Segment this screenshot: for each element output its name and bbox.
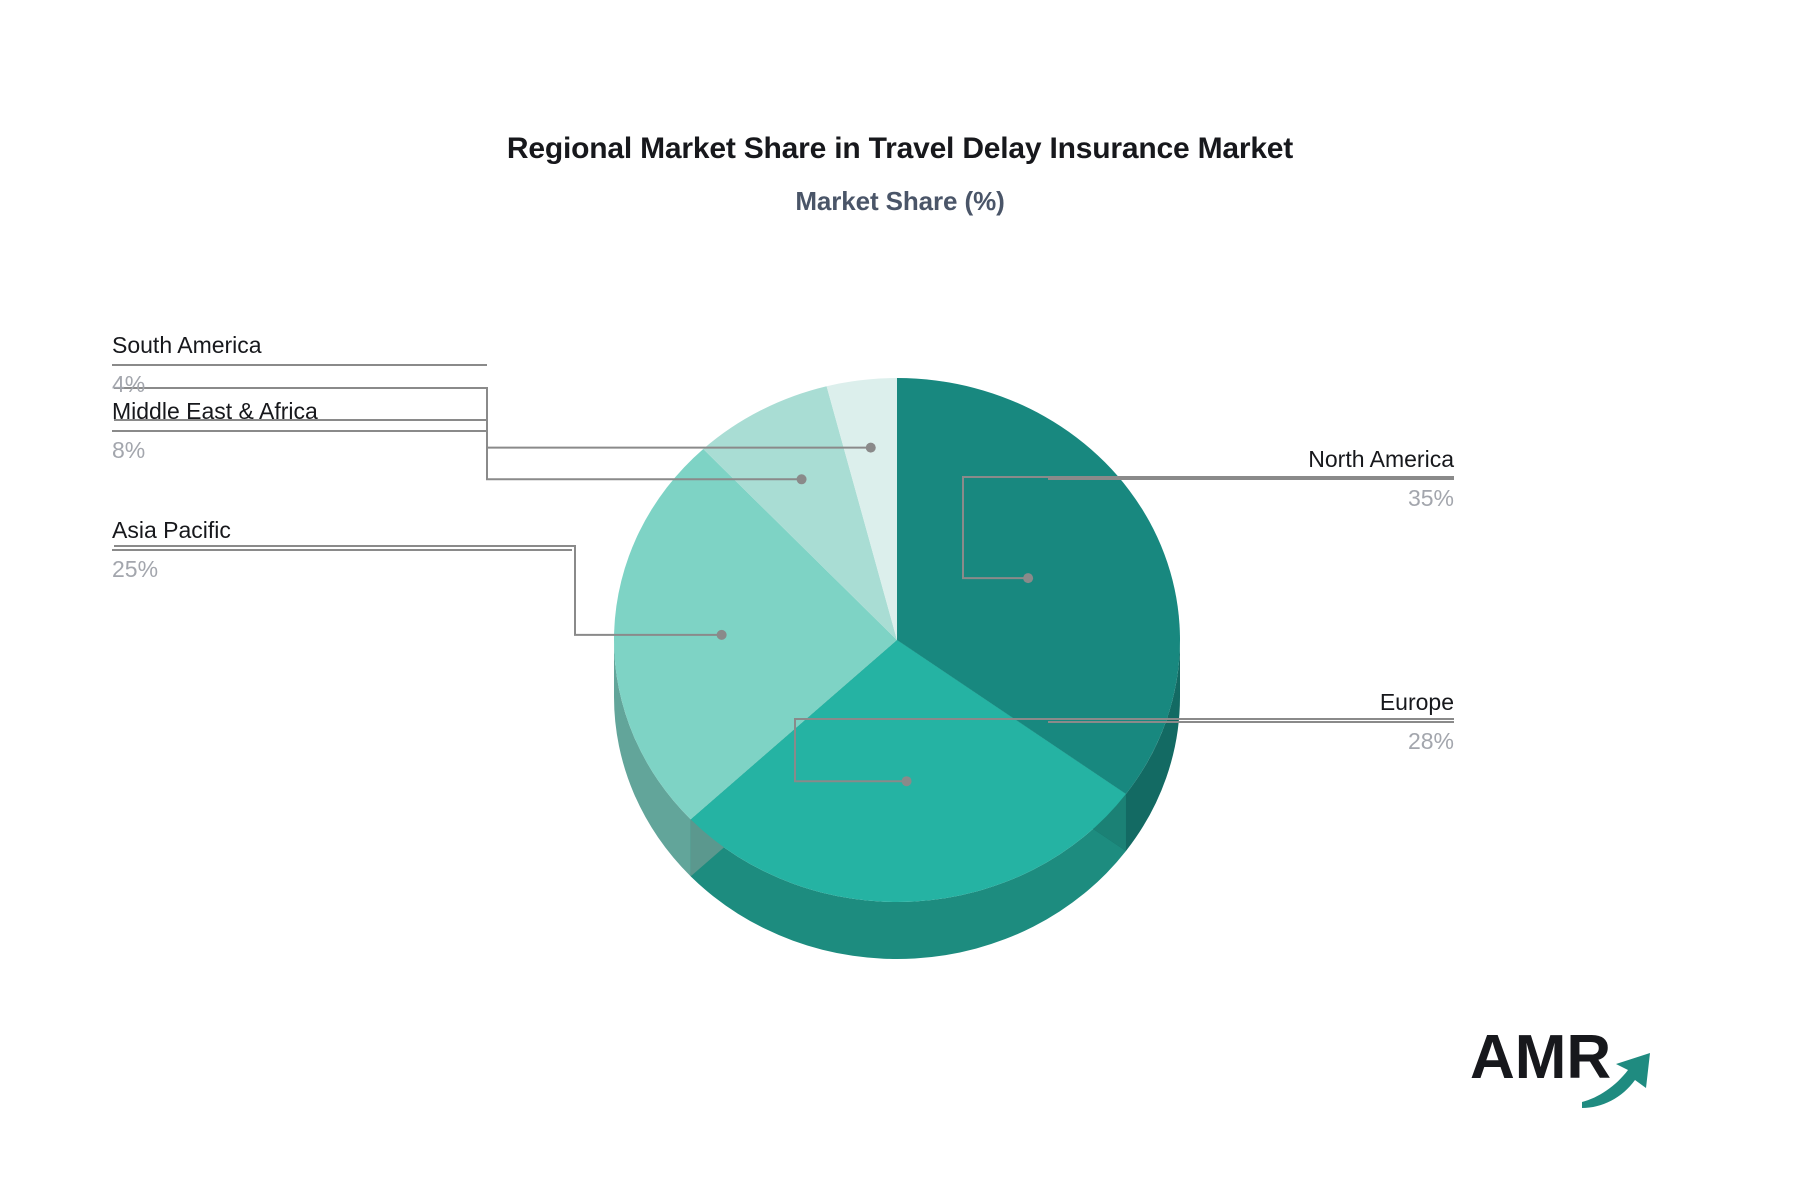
callout-value-europe: 28% — [1048, 725, 1454, 757]
callout-rule-south-america — [112, 364, 487, 366]
leader-dot-north-america — [1023, 573, 1033, 583]
callout-label-europe: Europe — [1048, 687, 1454, 717]
callout-value-asia-pacific: 25% — [112, 553, 572, 585]
callout-label-north-america: North America — [1048, 444, 1454, 474]
callout-middle-east-africa[interactable]: Middle East & Africa 8% — [112, 396, 487, 466]
callout-label-south-america: South America — [112, 330, 487, 360]
callout-rule-north-america — [1048, 478, 1454, 480]
callout-value-north-america: 35% — [1048, 482, 1454, 514]
callout-north-america[interactable]: North America 35% — [1048, 444, 1454, 514]
pie-chart-svg — [0, 0, 1800, 1196]
leader-dot-middle-east-africa — [797, 474, 807, 484]
amr-logo-svg: AMR — [1470, 1020, 1670, 1110]
callout-europe[interactable]: Europe 28% — [1048, 687, 1454, 757]
callout-south-america[interactable]: South America 4% — [112, 330, 487, 400]
leader-dot-asia-pacific — [717, 630, 727, 640]
amr-wordmark: AMR — [1470, 1023, 1611, 1092]
amr-logo: AMR — [1470, 1020, 1670, 1110]
leader-dot-europe — [902, 776, 912, 786]
callout-rule-europe — [1048, 721, 1454, 723]
chart-canvas: Regional Market Share in Travel Delay In… — [0, 0, 1800, 1196]
callout-rule-asia-pacific — [112, 549, 572, 551]
callout-label-asia-pacific: Asia Pacific — [112, 515, 572, 545]
callout-asia-pacific[interactable]: Asia Pacific 25% — [112, 515, 572, 585]
leader-dot-south-america — [866, 443, 876, 453]
callout-rule-middle-east-africa — [112, 430, 487, 432]
pie-chart — [0, 0, 1800, 1196]
callout-value-middle-east-africa: 8% — [112, 434, 487, 466]
callout-label-middle-east-africa: Middle East & Africa — [112, 396, 487, 426]
